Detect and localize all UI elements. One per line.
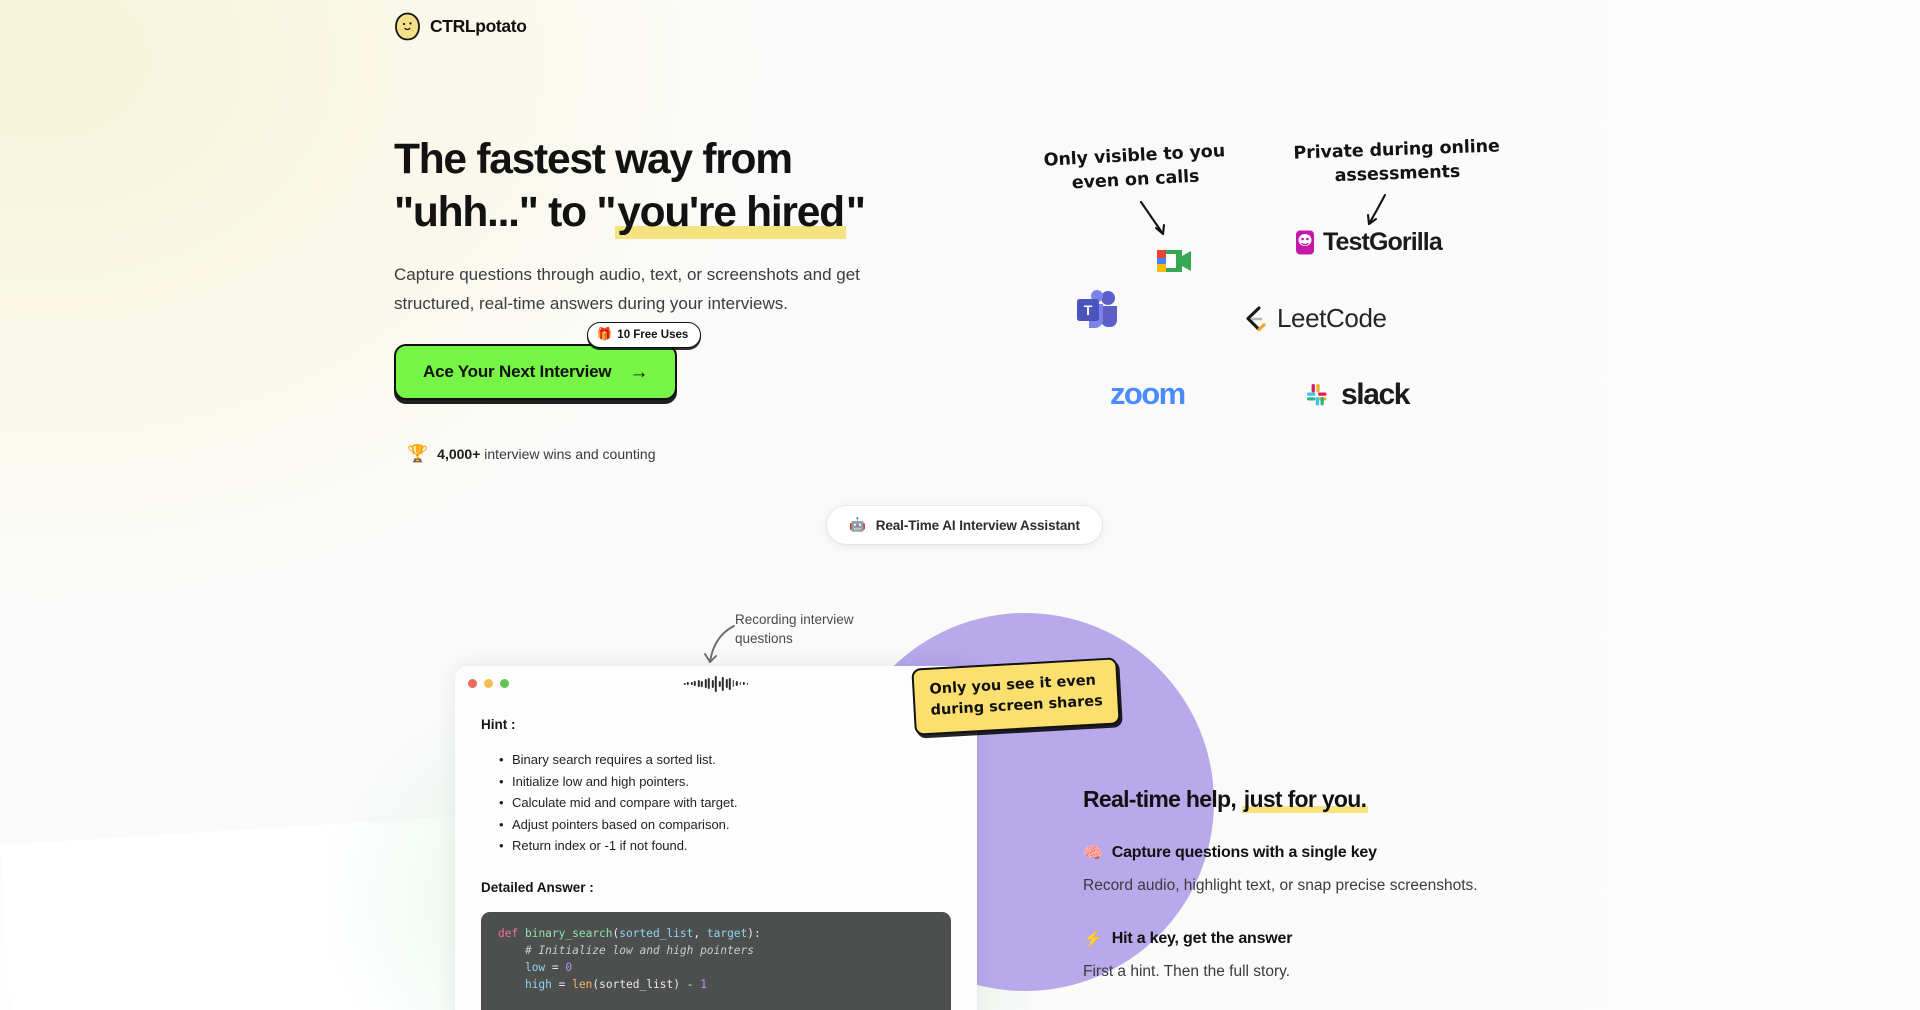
robot-icon: 🤖: [849, 517, 866, 533]
hint-section-title: Hint :: [481, 717, 951, 732]
list-item: Binary search requires a sorted list.: [499, 749, 951, 771]
list-item: Adjust pointers based on comparison.: [499, 814, 951, 836]
free-uses-badge: 🎁 10 Free Uses: [587, 322, 702, 348]
curved-arrow-icon-gorilla: [1355, 192, 1405, 240]
sticky-note-screen-share: Only you see it evenduring screen shares: [911, 657, 1121, 735]
feature-title: 🧠 Capture questions with a single key: [1083, 843, 1503, 863]
feature-description: First a hint. Then the full story.: [1083, 958, 1503, 985]
annotation-private-assessments: Private during online assessments: [1291, 134, 1503, 189]
logo-slack: slack: [1305, 378, 1409, 412]
svg-text:T: T: [1084, 302, 1093, 318]
hero-copy: The fastest way from "uhh..." to "you're…: [394, 133, 994, 318]
arrow-right-icon: →: [629, 363, 648, 382]
ace-your-next-interview-button[interactable]: Ace Your Next Interview →: [394, 344, 677, 400]
headline-line-2-pre: "uhh..." to ": [394, 189, 615, 236]
minimize-icon[interactable]: [484, 679, 493, 688]
logo-zoom: zoom: [1110, 376, 1185, 412]
feature-title-text: Hit a key, get the answer: [1112, 930, 1293, 948]
hint-list: Binary search requires a sorted list. In…: [499, 749, 951, 857]
list-item: Return index or -1 if not found.: [499, 835, 951, 857]
maximize-icon[interactable]: [500, 679, 509, 688]
headline-highlight: you're hired: [615, 186, 846, 239]
social-proof-text: interview wins and counting: [484, 446, 655, 462]
slack-wordmark: slack: [1341, 378, 1409, 412]
app-preview-window: Hint : Binary search requires a sorted l…: [455, 666, 977, 1010]
leetcode-wordmark: LeetCode: [1277, 303, 1387, 334]
window-content: Hint : Binary search requires a sorted l…: [455, 701, 977, 1010]
feature-title-text: Capture questions with a single key: [1112, 844, 1377, 862]
audio-waveform-icon: [684, 675, 748, 693]
cta-container: Ace Your Next Interview → 🎁 10 Free Uses: [394, 344, 677, 400]
free-uses-label: 10 Free Uses: [617, 329, 688, 341]
potato-icon: [394, 12, 421, 41]
feature-item-hit-key: ⚡ Hit a key, get the answer First a hint…: [1083, 929, 1503, 985]
social-proof: 🏆 4,000+ interview wins and counting: [407, 444, 656, 464]
feature-title: ⚡ Hit a key, get the answer: [1083, 929, 1503, 949]
features-heading-highlight: just for you.: [1242, 786, 1369, 813]
features-column: Real-time help, just for you. 🧠 Capture …: [1083, 786, 1503, 985]
close-icon[interactable]: [468, 679, 477, 688]
annotation-recording-questions: Recording interview questions: [735, 610, 895, 648]
brand-name: CTRLpotato: [430, 16, 527, 37]
list-item: Initialize low and high pointers.: [499, 771, 951, 793]
features-heading: Real-time help, just for you.: [1083, 786, 1503, 813]
detailed-answer-title: Detailed Answer :: [481, 880, 951, 895]
lightning-icon: ⚡: [1083, 929, 1103, 949]
social-proof-count: 4,000+: [437, 446, 480, 462]
annotation-only-visible: Only visible to you even on calls: [1029, 139, 1241, 198]
code-block: def binary_search(sorted_list, target): …: [481, 912, 951, 1010]
ai-assistant-pill-label: Real-Time AI Interview Assistant: [876, 518, 1080, 533]
list-item: Calculate mid and compare with target.: [499, 792, 951, 814]
ai-assistant-pill[interactable]: 🤖 Real-Time AI Interview Assistant: [827, 506, 1102, 544]
logo-leetcode: LeetCode: [1243, 303, 1387, 334]
feature-item-capture: 🧠 Capture questions with a single key Re…: [1083, 843, 1503, 899]
brain-icon: 🧠: [1083, 843, 1103, 863]
curved-arrow-icon-meet: [1135, 198, 1185, 248]
headline-line-1: The fastest way from: [394, 136, 792, 183]
cta-label: Ace Your Next Interview: [423, 362, 611, 382]
gift-icon: 🎁: [597, 327, 613, 342]
headline-line-2-post: ": [846, 189, 865, 236]
logo-microsoft-teams: T: [1075, 288, 1125, 330]
hero-subheading: Capture questions through audio, text, o…: [394, 261, 924, 318]
feature-description: Record audio, highlight text, or snap pr…: [1083, 872, 1503, 899]
page-title: The fastest way from "uhh..." to "you're…: [394, 133, 994, 239]
trophy-icon: 🏆: [407, 444, 428, 464]
site-header[interactable]: CTRLpotato: [394, 12, 527, 41]
zoom-wordmark: zoom: [1110, 376, 1185, 412]
traffic-lights: [468, 679, 509, 688]
features-heading-pre: Real-time help,: [1083, 786, 1242, 812]
